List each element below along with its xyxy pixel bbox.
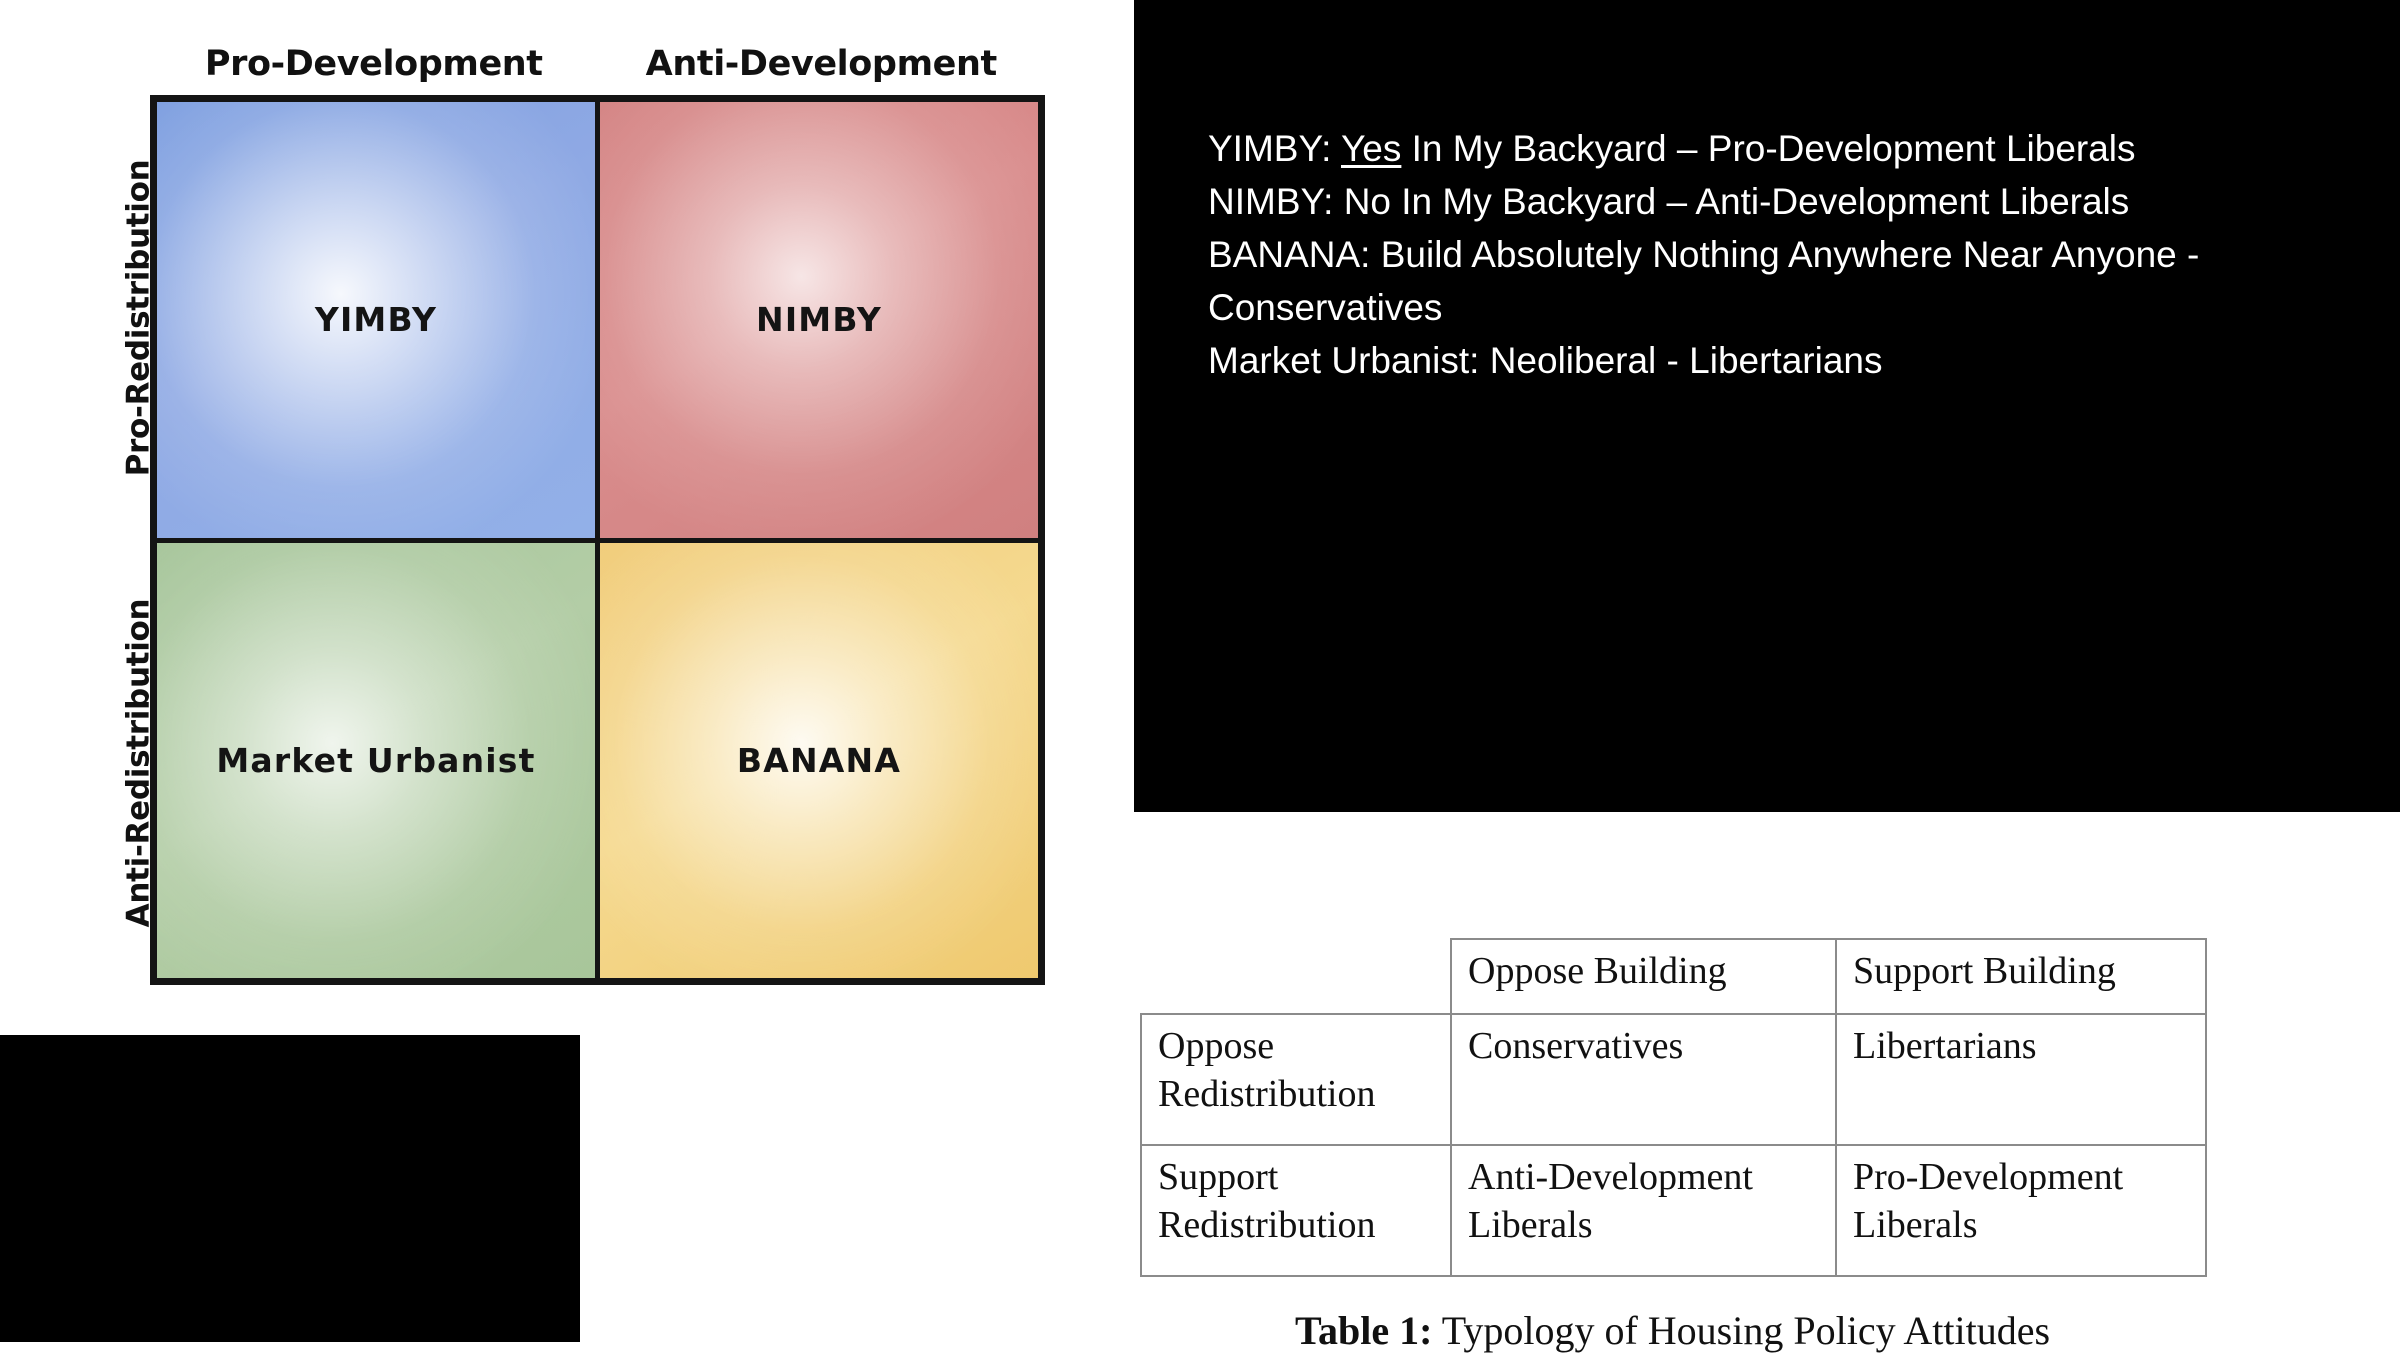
table-header-row: Oppose Building Support Building	[1141, 939, 2206, 1014]
legend-line-market-urbanist-text: Market Urbanist: Neoliberal - Libertaria…	[1208, 340, 1883, 381]
quadrant-cell-label-market-urbanist: Market Urbanist	[216, 741, 535, 780]
table-row: Oppose Redistribution Conservatives Libe…	[1141, 1014, 2206, 1145]
legend-line-banana: BANANA: Build Absolutely Nothing Anywher…	[1208, 228, 2328, 334]
table-caption-label: Table 1:	[1295, 1308, 1432, 1353]
table-cell-anti-development-liberals: Anti-Development Liberals	[1451, 1145, 1836, 1276]
legend-panel: YIMBY: Yes In My Backyard – Pro-Developm…	[1134, 0, 2400, 812]
quadrant-cell-banana[interactable]: BANANA	[600, 543, 1038, 979]
legend-line-yimby-prefix: YIMBY:	[1208, 128, 1341, 169]
legend-line-nimby-text: NIMBY: No In My Backyard – Anti-Developm…	[1208, 181, 2129, 222]
quadrant-cell-label-banana: BANANA	[737, 741, 901, 780]
quadrant-matrix: YIMBY NIMBY Market Urbanist BANANA	[150, 95, 1045, 985]
legend-text-block: YIMBY: Yes In My Backyard – Pro-Developm…	[1208, 122, 2328, 387]
legend-line-market-urbanist: Market Urbanist: Neoliberal - Libertaria…	[1208, 334, 2328, 387]
table-caption-text: Typology of Housing Policy Attitudes	[1432, 1308, 2050, 1353]
quadrant-cell-yimby[interactable]: YIMBY	[157, 102, 595, 538]
table-cell-conservatives: Conservatives	[1451, 1014, 1836, 1145]
quadrant-cell-nimby[interactable]: NIMBY	[600, 102, 1038, 538]
quadrant-cell-label-yimby: YIMBY	[315, 300, 437, 339]
quadrant-column-headers: Pro-Development Anti-Development	[150, 38, 1045, 90]
table-cell-pro-development-liberals: Pro-Development Liberals	[1836, 1145, 2206, 1276]
table-rowlabel-support-redistribution: Support Redistribution	[1141, 1145, 1451, 1276]
quadrant-cell-label-nimby: NIMBY	[756, 300, 882, 339]
column-header-anti-development: Anti-Development	[598, 38, 1046, 90]
legend-line-yimby: YIMBY: Yes In My Backyard – Pro-Developm…	[1208, 122, 2328, 175]
legend-line-nimby: NIMBY: No In My Backyard – Anti-Developm…	[1208, 175, 2328, 228]
legend-line-banana-text: BANANA: Build Absolutely Nothing Anywher…	[1208, 234, 2199, 328]
table-cell-libertarians: Libertarians	[1836, 1014, 2206, 1145]
table-corner-cell	[1141, 939, 1451, 1014]
legend-line-yimby-suffix: In My Backyard – Pro-Development Liberal…	[1401, 128, 2135, 169]
table-header-support-building: Support Building	[1836, 939, 2206, 1014]
table-row: Support Redistribution Anti-Development …	[1141, 1145, 2206, 1276]
typology-table-figure: Oppose Building Support Building Oppose …	[1140, 938, 2210, 1354]
table-caption: Table 1: Typology of Housing Policy Atti…	[1140, 1307, 2205, 1354]
table-rowlabel-oppose-redistribution: Oppose Redistribution	[1141, 1014, 1451, 1145]
table-header-oppose-building: Oppose Building	[1451, 939, 1836, 1014]
column-header-pro-development: Pro-Development	[150, 38, 598, 90]
typology-table: Oppose Building Support Building Oppose …	[1140, 938, 2207, 1277]
quadrant-chart-figure: Pro-Development Anti-Development Pro-Red…	[0, 0, 1090, 1010]
legend-line-yimby-underlined: Yes	[1341, 128, 1401, 169]
black-placeholder-block	[0, 1035, 580, 1342]
quadrant-cell-market-urbanist[interactable]: Market Urbanist	[157, 543, 595, 979]
